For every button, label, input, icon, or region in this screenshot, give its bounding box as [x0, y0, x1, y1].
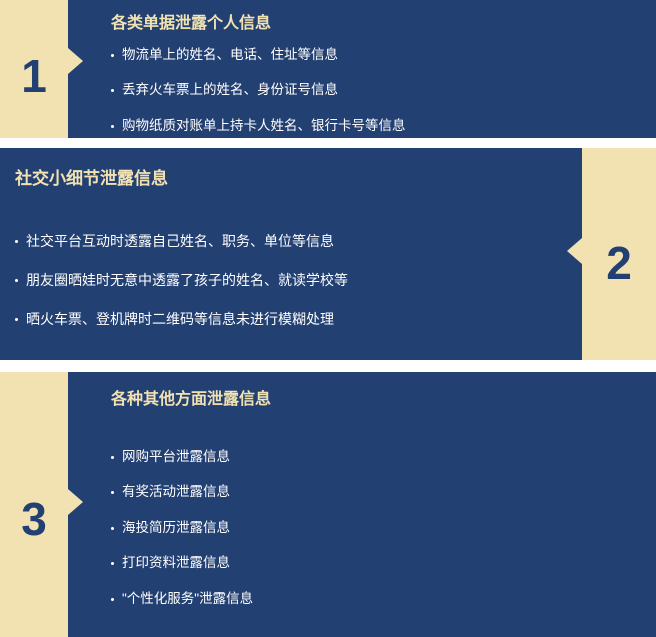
- section-2-title: 社交小细节泄露信息: [15, 168, 582, 190]
- section-2-bullet-list: 社交平台互动时透露自己姓名、职务、单位等信息 朋友圈晒娃时无意中透露了孩子的姓名…: [15, 234, 582, 326]
- section-1-number-panel: 1: [0, 0, 68, 138]
- section-3-number: 3: [21, 496, 47, 542]
- infographic-section-2: 2 社交小细节泄露信息 社交平台互动时透露自己姓名、职务、单位等信息 朋友圈晒娃…: [0, 148, 656, 360]
- list-item: 晒火车票、登机牌时二维码等信息未进行模糊处理: [15, 312, 582, 326]
- infographic-section-1: 1 各类单据泄露个人信息 物流单上的姓名、电话、住址等信息 丢弃火车票上的姓名、…: [0, 0, 656, 138]
- section-3-number-panel: 3: [0, 372, 68, 637]
- list-item: 社交平台互动时透露自己姓名、职务、单位等信息: [15, 234, 582, 248]
- section-1-title: 各类单据泄露个人信息: [111, 14, 656, 35]
- section-3-title: 各种其他方面泄露信息: [111, 390, 656, 411]
- list-item: 物流单上的姓名、电话、住址等信息: [111, 48, 656, 62]
- section-1-body: 各类单据泄露个人信息 物流单上的姓名、电话、住址等信息 丢弃火车票上的姓名、身份…: [68, 0, 656, 132]
- list-item: 海投简历泄露信息: [111, 521, 656, 535]
- list-item: 购物纸质对账单上持卡人姓名、银行卡号等信息: [111, 119, 656, 133]
- list-item: "个性化服务"泄露信息: [111, 592, 656, 606]
- infographic-personal-info-leak: 1 各类单据泄露个人信息 物流单上的姓名、电话、住址等信息 丢弃火车票上的姓名、…: [0, 0, 656, 637]
- arrow-right-icon: [68, 48, 83, 74]
- list-item: 网购平台泄露信息: [111, 450, 656, 464]
- section-3-bullet-list: 网购平台泄露信息 有奖活动泄露信息 海投简历泄露信息 打印资料泄露信息 "个性化…: [111, 450, 656, 606]
- section-2-number-panel: 2: [582, 148, 656, 360]
- section-2-body: 社交小细节泄露信息 社交平台互动时透露自己姓名、职务、单位等信息 朋友圈晒娃时无…: [0, 148, 582, 326]
- list-item: 朋友圈晒娃时无意中透露了孩子的姓名、就读学校等: [15, 273, 582, 287]
- list-item: 有奖活动泄露信息: [111, 485, 656, 499]
- section-3-content-panel: 各种其他方面泄露信息 网购平台泄露信息 有奖活动泄露信息 海投简历泄露信息 打印…: [68, 372, 656, 637]
- infographic-section-3: 3 各种其他方面泄露信息 网购平台泄露信息 有奖活动泄露信息 海投简历泄露信息 …: [0, 372, 656, 637]
- list-item: 丢弃火车票上的姓名、身份证号信息: [111, 83, 656, 97]
- section-1-number: 1: [21, 53, 47, 99]
- list-item: 打印资料泄露信息: [111, 556, 656, 570]
- section-3-body: 各种其他方面泄露信息 网购平台泄露信息 有奖活动泄露信息 海投简历泄露信息 打印…: [68, 372, 656, 605]
- arrow-right-icon: [68, 489, 83, 515]
- section-1-bullet-list: 物流单上的姓名、电话、住址等信息 丢弃火车票上的姓名、身份证号信息 购物纸质对账…: [111, 48, 656, 133]
- section-2-content-panel: 社交小细节泄露信息 社交平台互动时透露自己姓名、职务、单位等信息 朋友圈晒娃时无…: [0, 148, 582, 360]
- section-1-content-panel: 各类单据泄露个人信息 物流单上的姓名、电话、住址等信息 丢弃火车票上的姓名、身份…: [68, 0, 656, 138]
- section-2-number: 2: [606, 240, 632, 286]
